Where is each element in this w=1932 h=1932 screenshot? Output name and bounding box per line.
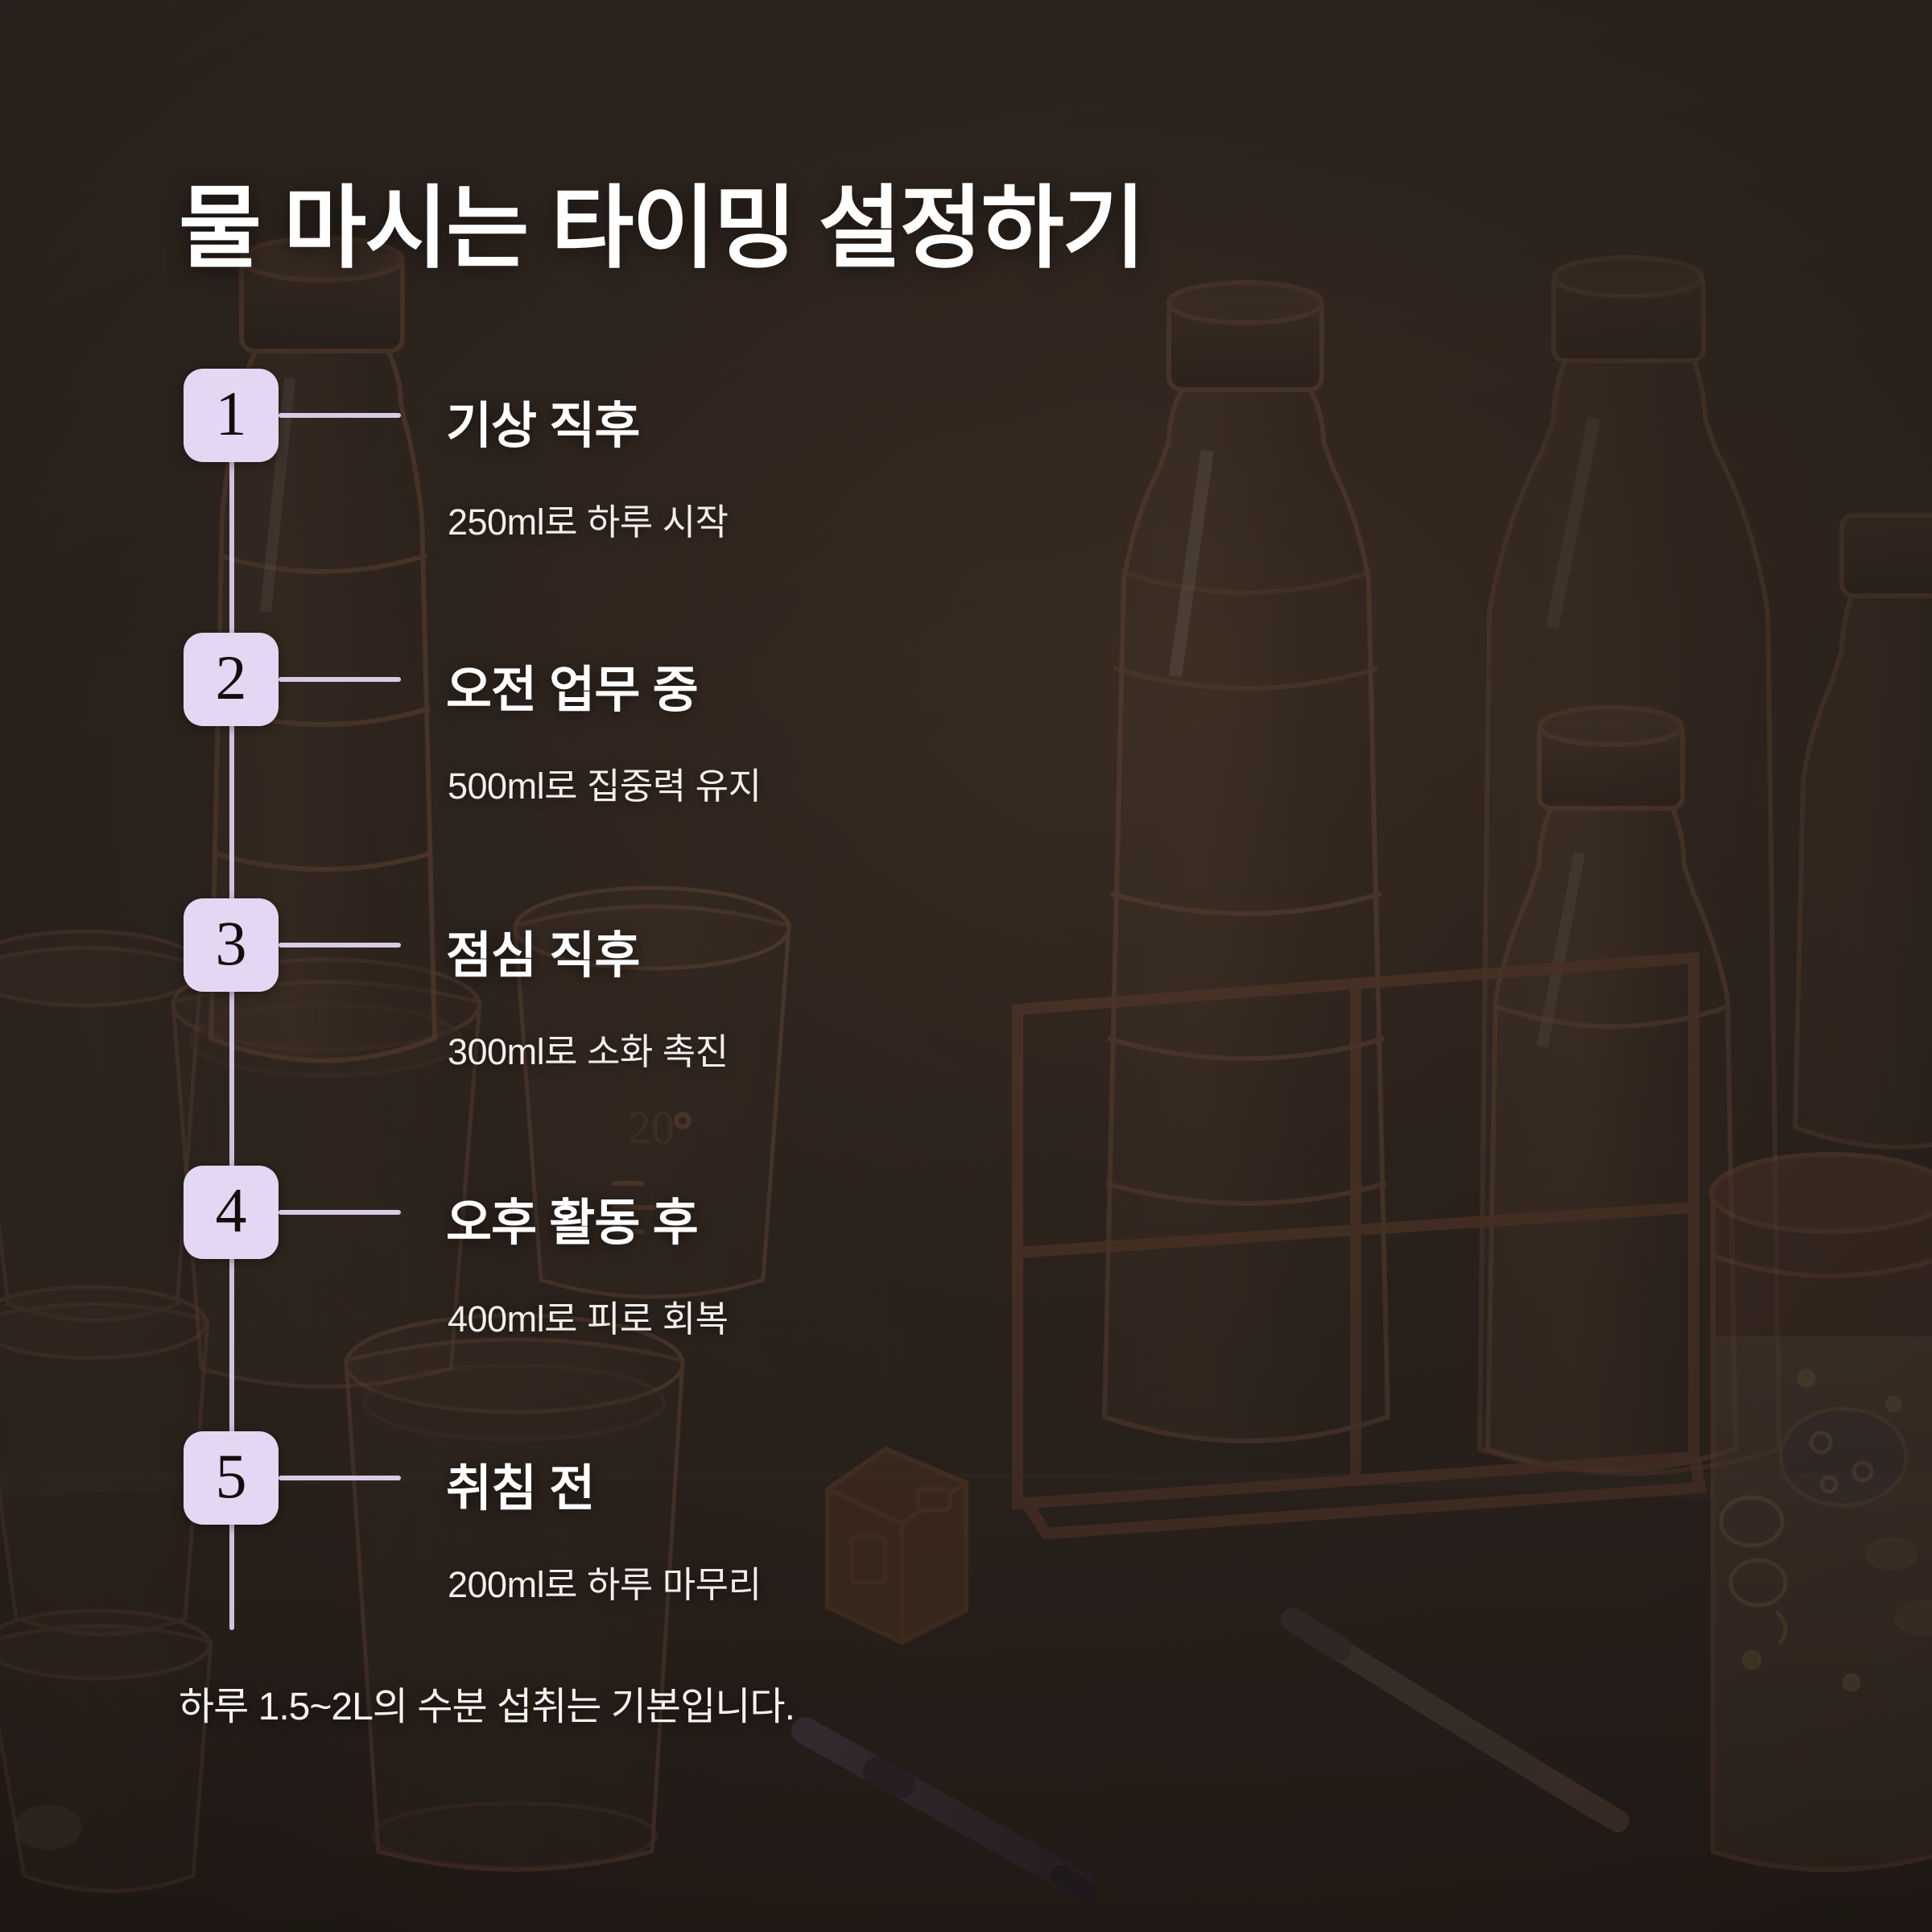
timeline: 1 기상 직후 250ml로 하루 시작 2 오전 업무 중 500ml로 집중… bbox=[0, 0, 1932, 1932]
step-connector-1 bbox=[279, 413, 401, 418]
infographic-content: 물 마시는 타이밍 설정하기 1 기상 직후 250ml로 하루 시작 2 오전… bbox=[0, 0, 1932, 1932]
step-number-badge-2[interactable]: 2 bbox=[184, 633, 279, 726]
step-connector-4 bbox=[279, 1210, 401, 1215]
step-number-2: 2 bbox=[216, 646, 247, 709]
step-connector-5 bbox=[279, 1476, 401, 1480]
step-title-2: 오전 업무 중 bbox=[446, 649, 698, 721]
step-title-5: 취침 전 bbox=[446, 1447, 594, 1520]
step-desc-2: 500ml로 집중력 유지 bbox=[448, 757, 761, 809]
step-desc-4: 400ml로 피로 회복 bbox=[448, 1290, 729, 1342]
step-number-4: 4 bbox=[216, 1179, 247, 1242]
step-connector-2 bbox=[279, 677, 401, 682]
step-connector-3 bbox=[279, 943, 401, 947]
step-number-3: 3 bbox=[216, 912, 247, 975]
step-title-3: 점심 직후 bbox=[446, 914, 639, 987]
step-number-badge-4[interactable]: 4 bbox=[184, 1166, 279, 1259]
step-number-5: 5 bbox=[216, 1445, 247, 1508]
step-title-4: 오후 활동 후 bbox=[446, 1182, 698, 1254]
step-desc-5: 200ml로 하루 마무리 bbox=[448, 1555, 761, 1608]
step-title-1: 기상 직후 bbox=[446, 385, 639, 457]
footer-note: 하루 1.5~2L의 수분 섭취는 기본입니다. bbox=[179, 1674, 795, 1731]
step-number-badge-5[interactable]: 5 bbox=[184, 1431, 279, 1525]
step-number-1: 1 bbox=[216, 382, 247, 445]
step-number-badge-1[interactable]: 1 bbox=[184, 369, 279, 462]
step-number-badge-3[interactable]: 3 bbox=[184, 898, 279, 992]
step-desc-1: 250ml로 하루 시작 bbox=[448, 493, 729, 545]
step-desc-3: 300ml로 소화 촉진 bbox=[448, 1022, 729, 1075]
